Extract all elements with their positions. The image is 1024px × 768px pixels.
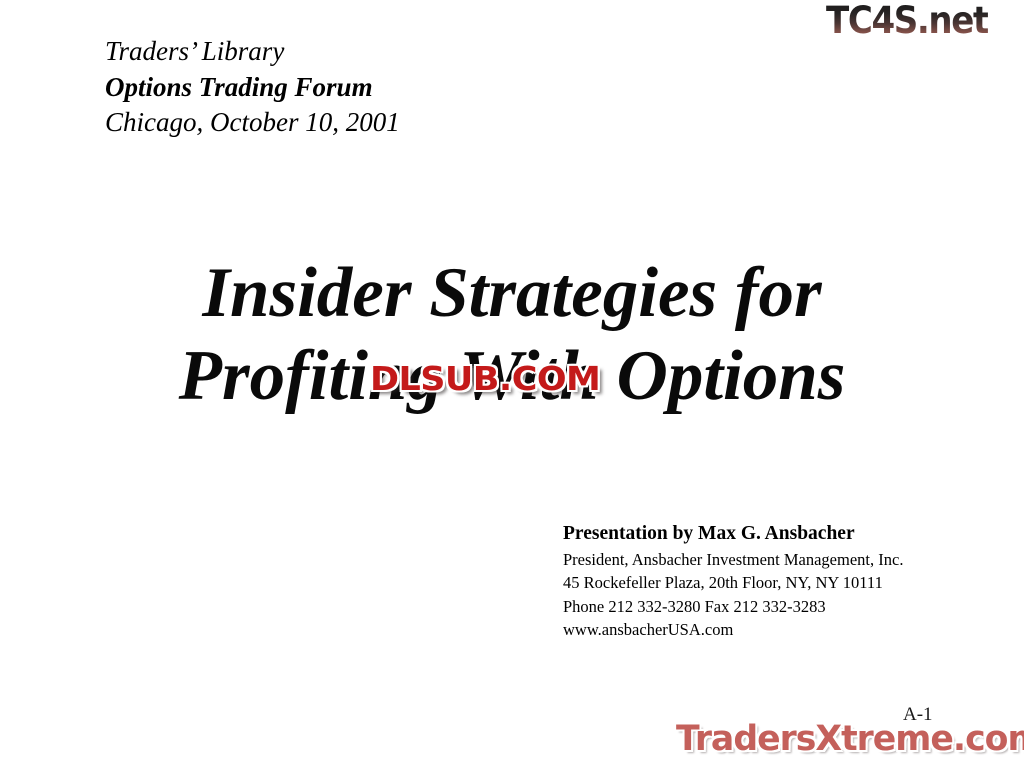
event-header: Traders’ Library Options Trading Forum C… — [105, 34, 400, 141]
header-location-date: Chicago, October 10, 2001 — [105, 105, 400, 141]
presenter-title-company: President, Ansbacher Investment Manageme… — [563, 548, 903, 571]
tc4s-net-logo: TC4S.net — [826, 2, 988, 39]
presenter-info: Presentation by Max G. Ansbacher Preside… — [563, 520, 903, 641]
dlsub-com-watermark: DLSUB.COM — [370, 359, 600, 398]
presenter-website: www.ansbacherUSA.com — [563, 618, 903, 641]
presenter-phone-fax: Phone 212 332-3280 Fax 212 332-3283 — [563, 595, 903, 618]
header-organizer: Traders’ Library — [105, 34, 400, 70]
tradersxtreme-com-logo: TradersXtreme.com — [676, 721, 1024, 758]
presenter-name: Presentation by Max G. Ansbacher — [563, 520, 903, 548]
title-line-1: Insider Strategies for — [0, 252, 1024, 335]
header-event-name: Options Trading Forum — [105, 70, 400, 106]
presenter-address: 45 Rockefeller Plaza, 20th Floor, NY, NY… — [563, 571, 903, 594]
presentation-slide: TC4S.net Traders’ Library Options Tradin… — [0, 0, 1024, 768]
